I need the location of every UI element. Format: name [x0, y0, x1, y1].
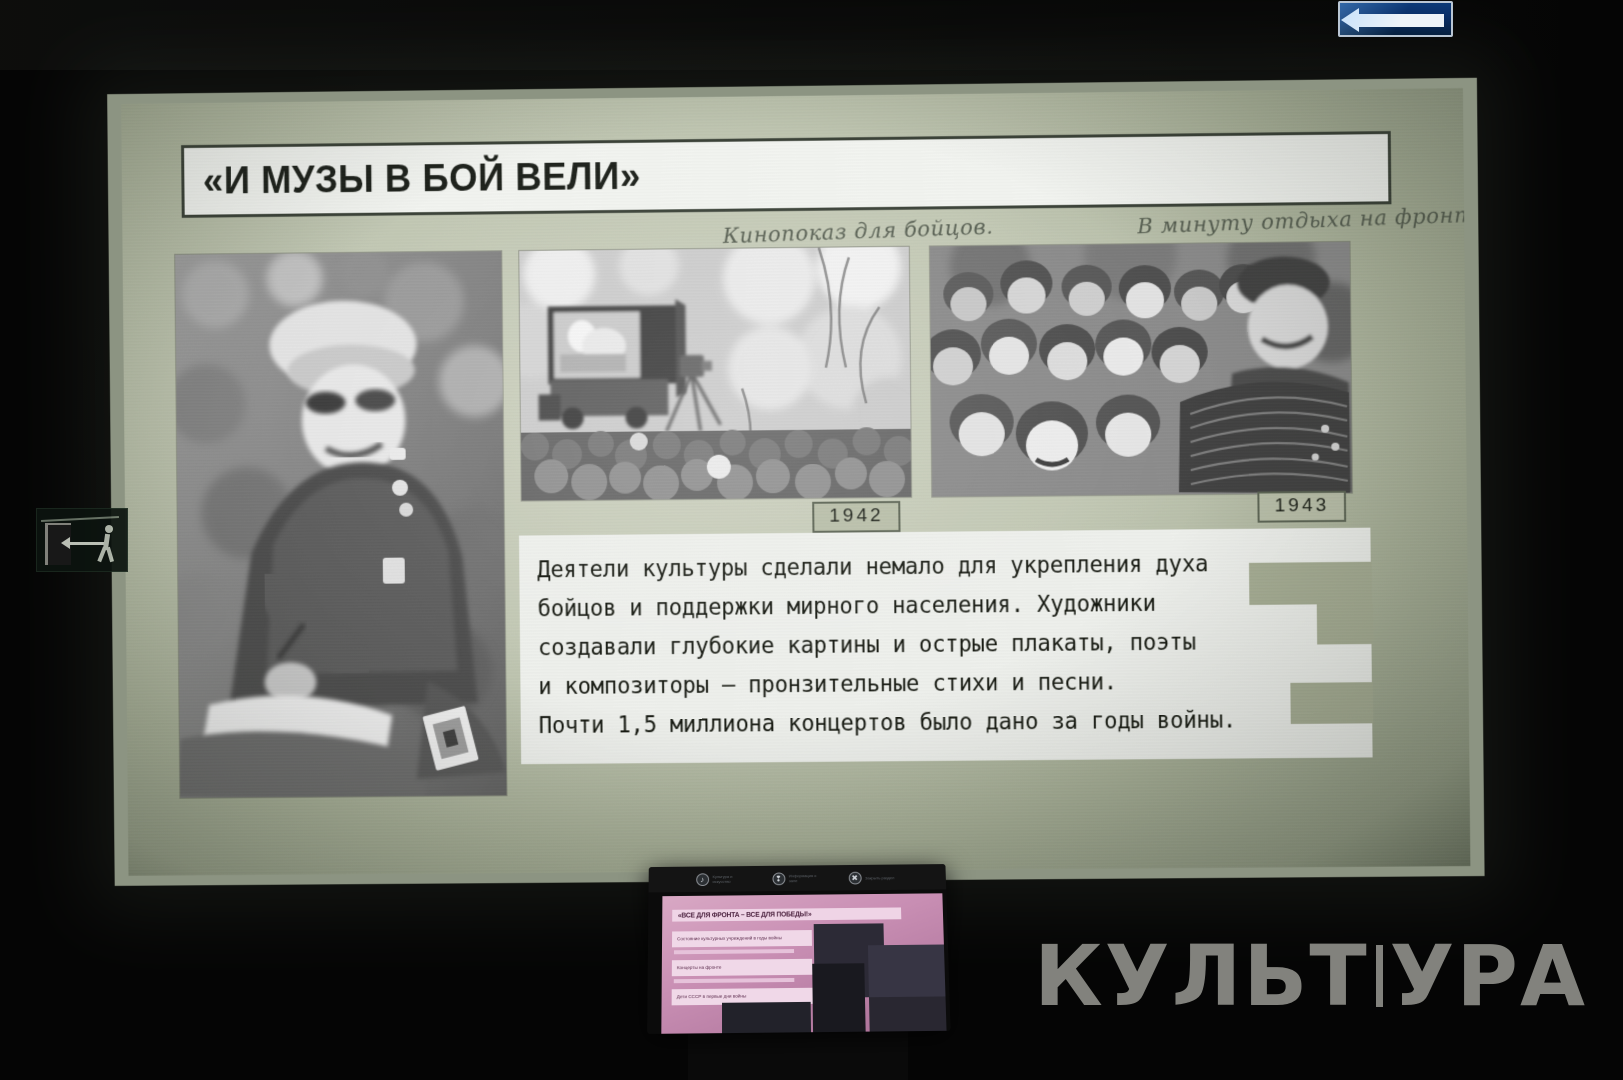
- kiosk-button-label: Закрыть раздел: [865, 875, 899, 880]
- emergency-exit-sign: [36, 508, 128, 572]
- kiosk-screen-title: «ВСЕ ДЛЯ ФРОНТА – ВСЕ ДЛЯ ПОБЕДЫ!»: [672, 907, 901, 921]
- kiosk-bezel: ♪ Культура и искусство ❢ Информация о за…: [649, 864, 947, 892]
- kiosk-button-close[interactable]: ✖ Закрыть раздел: [848, 871, 899, 884]
- sign-glare: [1340, 3, 1451, 35]
- kiosk-menu-item-label: Дети СССР в первые дни войны: [677, 993, 747, 1000]
- kiosk-touchscreen[interactable]: «ВСЕ ДЛЯ ФРОНТА – ВСЕ ДЛЯ ПОБЕДЫ!» Состо…: [661, 893, 946, 1033]
- channel-watermark: КУЛЬТ УРА: [1034, 934, 1587, 1018]
- slide-paragraph: Деятели культуры сделали немало для укре…: [519, 528, 1373, 765]
- paragraph-edge-mask: [1290, 682, 1373, 724]
- paragraph-edge-mask: [1249, 562, 1372, 605]
- kiosk-menu-item[interactable]: Состояние культурных учреждений в годы в…: [672, 930, 812, 947]
- running-man-icon: [98, 525, 118, 565]
- info-icon: ❢: [772, 872, 785, 885]
- paragraph-line: Почти 1,5 миллиона концертов было дано з…: [539, 700, 1342, 746]
- note-icon: ♪: [696, 873, 709, 886]
- kiosk-photo: [812, 963, 865, 1032]
- photo-correspondent: [175, 251, 506, 798]
- kiosk-button-label: Информация о зале: [789, 873, 823, 883]
- paragraph-line: создавали глубокие картины и острые плак…: [538, 622, 1341, 668]
- kiosk-photo: [869, 996, 947, 1033]
- kiosk-screen-title-text: «ВСЕ ДЛЯ ФРОНТА – ВСЕ ДЛЯ ПОБЕДЫ!»: [672, 911, 811, 919]
- kiosk-photo: [722, 1002, 811, 1034]
- kiosk-menu-divider: [674, 978, 795, 983]
- slide-title: «И МУЗЫ В БОЙ ВЕЛИ»: [184, 154, 641, 203]
- slide-title-box: «И МУЗЫ В БОЙ ВЕЛИ»: [181, 131, 1391, 218]
- interactive-kiosk[interactable]: ♪ Культура и искусство ❢ Информация о за…: [647, 864, 950, 1034]
- wayfinding-arrow-sign: [1338, 1, 1453, 37]
- paragraph-edge-mask: [1317, 604, 1374, 645]
- kiosk-menu-item-label: Концерты на фронте: [677, 965, 722, 971]
- watermark-part-two: УРА: [1390, 934, 1587, 1018]
- photo-accordion: [930, 242, 1352, 497]
- close-icon: ✖: [848, 871, 861, 884]
- watermark-part-one: КУЛЬТ: [1034, 934, 1369, 1018]
- kiosk-menu-item-label: Состояние культурных учреждений в годы в…: [677, 935, 782, 942]
- projection-screen: «И МУЗЫ В БОЙ ВЕЛИ» Кинопоказ для бойцов…: [107, 78, 1484, 886]
- year-label-1943: 1943: [1257, 491, 1346, 523]
- year-label-1942: 1942: [812, 501, 901, 533]
- kiosk-button-info[interactable]: ❢ Информация о зале: [772, 872, 823, 885]
- kiosk-button-label: Культура и искусство: [713, 874, 747, 884]
- presentation-slide: «И МУЗЫ В БОЙ ВЕЛИ» Кинопоказ для бойцов…: [121, 88, 1470, 876]
- kiosk-menu-divider: [674, 949, 794, 954]
- caption-rest-at-front: В минуту отдыха на фронте.: [1137, 202, 1470, 239]
- exit-sign-rim: [41, 516, 119, 522]
- watermark-divider: [1376, 945, 1383, 1007]
- photo-field-cinema: [519, 247, 911, 501]
- kiosk-photo: [868, 944, 947, 1001]
- museum-projection-room: «И МУЗЫ В БОЙ ВЕЛИ» Кинопоказ для бойцов…: [0, 0, 1623, 1080]
- paragraph-line: и композиторы — пронзительные стихи и пе…: [538, 661, 1341, 707]
- kiosk-menu-item[interactable]: Концерты на фронте: [672, 959, 813, 976]
- caption-field-cinema: Кинопоказ для бойцов.: [722, 214, 993, 248]
- kiosk-button-culture[interactable]: ♪ Культура и искусство: [696, 872, 747, 885]
